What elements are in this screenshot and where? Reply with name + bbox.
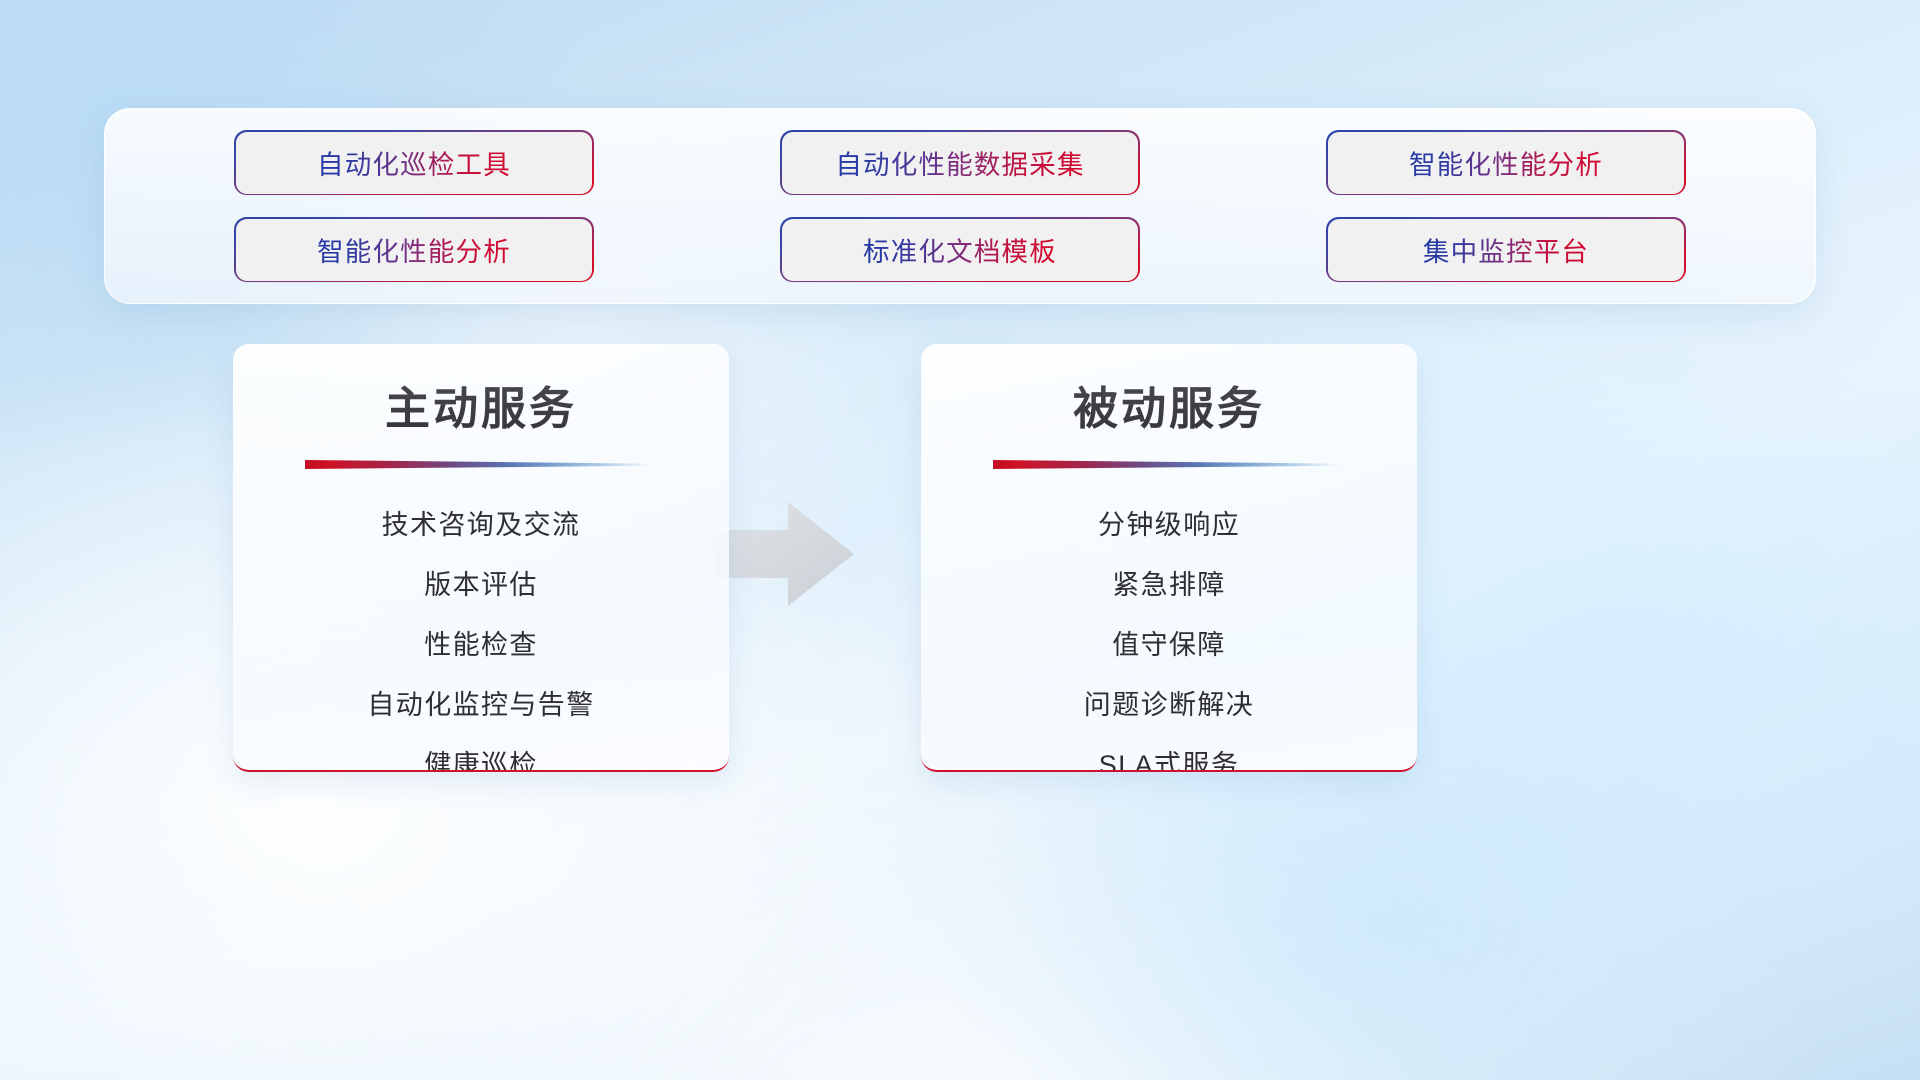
list-item: 分钟级响应 <box>921 495 1417 555</box>
divider-wedge <box>305 458 657 469</box>
list-item: 技术咨询及交流 <box>233 495 729 555</box>
capabilities-panel: 自动化巡检工具 自动化性能数据采集 智能化性能分析 智能化性能分析 标准化文档模… <box>104 108 1816 304</box>
capability-pill-label: 自动化性能数据采集 <box>835 143 1084 182</box>
capability-pill-label: 标准化文档模板 <box>863 230 1057 269</box>
capability-pill[interactable]: 智能化性能分析 <box>236 219 592 281</box>
capability-pill[interactable]: 集中监控平台 <box>1328 219 1684 281</box>
list-item: 紧急排障 <box>921 555 1417 615</box>
capability-pill-label: 智能化性能分析 <box>1409 143 1603 182</box>
capability-pill[interactable]: 自动化巡检工具 <box>236 132 592 194</box>
list-item: 值守保障 <box>921 615 1417 675</box>
active-service-card: 主动服务 技术咨询及交流 版本评估 性能检查 自动化监控与告警 健康巡检 <box>233 344 729 772</box>
title-divider <box>993 458 1345 469</box>
list-item: 自动化监控与告警 <box>233 675 729 735</box>
capability-pill[interactable]: 自动化性能数据采集 <box>782 132 1138 194</box>
capability-pill-label: 智能化性能分析 <box>317 230 511 269</box>
right-arrow-icon <box>714 498 854 610</box>
list-item: 健康巡检 <box>233 735 729 772</box>
capability-pill[interactable]: 智能化性能分析 <box>1328 132 1684 194</box>
capability-pill[interactable]: 标准化文档模板 <box>782 219 1138 281</box>
active-service-title: 主动服务 <box>233 372 729 437</box>
title-divider <box>305 458 657 469</box>
slide-canvas: 自动化巡检工具 自动化性能数据采集 智能化性能分析 智能化性能分析 标准化文档模… <box>0 0 1920 1080</box>
list-item: 版本评估 <box>233 555 729 615</box>
list-item: 性能检查 <box>233 615 729 675</box>
passive-service-card: 被动服务 分钟级响应 紧急排障 值守保障 问题诊断解决 SLA式服务 <box>921 344 1417 772</box>
divider-wedge <box>993 458 1345 469</box>
list-item: SLA式服务 <box>921 735 1417 772</box>
passive-service-title: 被动服务 <box>921 372 1417 437</box>
list-item: 问题诊断解决 <box>921 675 1417 735</box>
passive-service-list: 分钟级响应 紧急排障 值守保障 问题诊断解决 SLA式服务 <box>921 495 1417 772</box>
active-service-list: 技术咨询及交流 版本评估 性能检查 自动化监控与告警 健康巡检 <box>233 495 729 772</box>
capability-pill-label: 集中监控平台 <box>1423 230 1589 269</box>
capability-pill-label: 自动化巡检工具 <box>317 143 511 182</box>
